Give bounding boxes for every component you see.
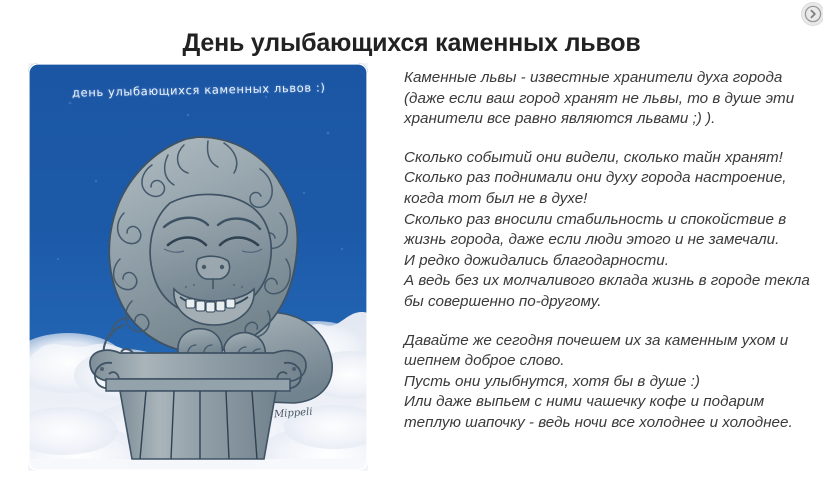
chevron-right-circle-icon[interactable] — [801, 2, 823, 26]
page-title: День улыбающихся каменных львов — [0, 29, 823, 58]
article-page: День улыбающихся каменных львов — [0, 0, 823, 486]
lion-illustration: день улыбающихся каменных львов :) Mippe… — [28, 63, 368, 471]
article-paragraph: Сколько событий они видели, сколько тайн… — [404, 148, 820, 313]
article-text-column: Каменные львы - известные хранители духа… — [404, 68, 820, 434]
illustration-canvas: день улыбающихся каменных львов :) Mippe… — [28, 63, 368, 471]
article-paragraph: Давайте же сегодня почешем их за каменны… — [404, 331, 820, 434]
article-paragraph: Каменные львы - известные хранители духа… — [404, 68, 820, 130]
